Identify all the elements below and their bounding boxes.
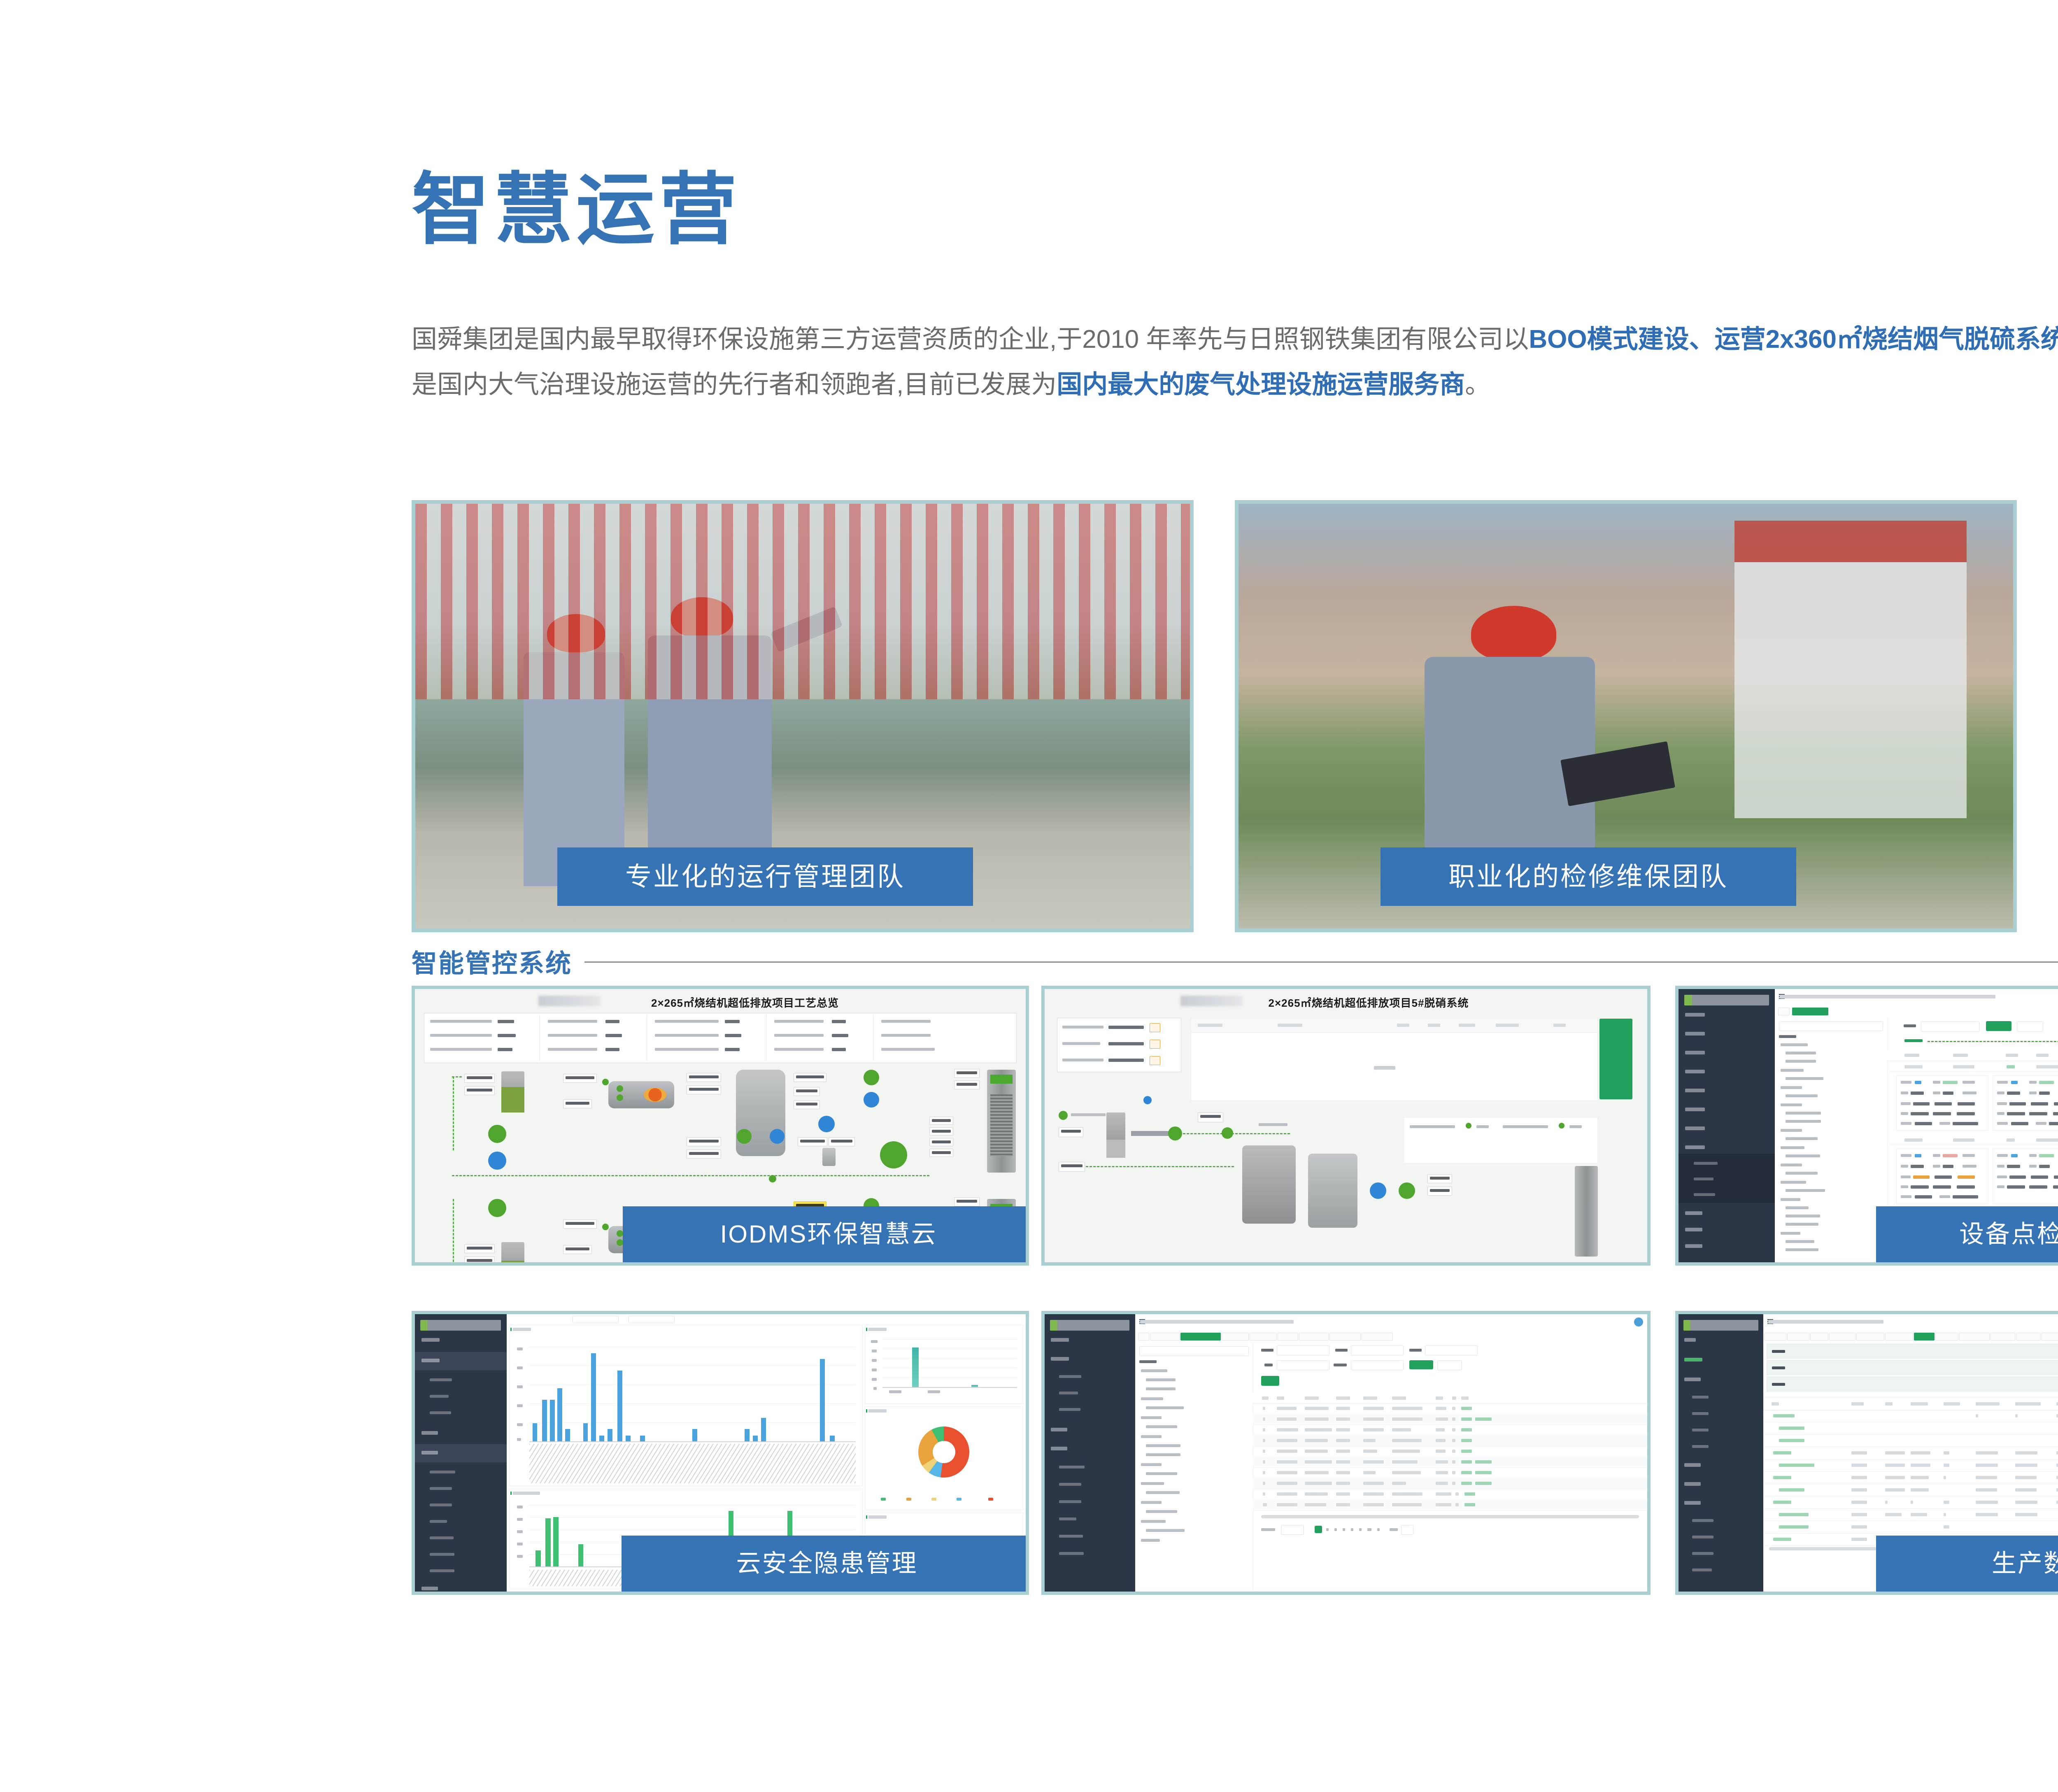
sidebar-item-safety-stats[interactable] — [430, 1536, 454, 1539]
tank-b — [501, 1242, 524, 1262]
panel-title-hazard-status — [868, 1409, 887, 1413]
sidebar-item-tv-screen[interactable] — [421, 1338, 440, 1342]
sidebar-item-equipment[interactable] — [1684, 1463, 1701, 1467]
avatar[interactable] — [1634, 1317, 1643, 1327]
intro-paragraph: 国舜集团是国内最早取得环保设施第三方运营资质的企业,于2010 年率先与日照钢铁… — [412, 317, 2058, 407]
hazard-level-chart-panel — [865, 1325, 1023, 1404]
sidebar-item-inspection-task[interactable] — [1059, 1500, 1081, 1503]
screen-hazard-table[interactable] — [1041, 1311, 1651, 1595]
page-6[interactable] — [1359, 1528, 1362, 1531]
confirm-all-button[interactable] — [1599, 1019, 1632, 1099]
screen-caption-safety: 云安全隐患管理 — [622, 1536, 1029, 1592]
pagination — [1261, 1524, 1639, 1536]
hero-caption-1: 专业化的运行管理团队 — [557, 847, 973, 906]
tab-cases[interactable] — [1278, 1333, 1298, 1341]
goto-input[interactable] — [1401, 1525, 1413, 1535]
search-button[interactable] — [1986, 1021, 2011, 1031]
hazard-count-chart — [529, 1347, 856, 1441]
status-select[interactable] — [1277, 1360, 1329, 1370]
app-topbar — [1775, 989, 2058, 1005]
tree-title — [1139, 1360, 1157, 1363]
hero-photo-2: 职业化的检修维保团队 — [1235, 500, 2017, 932]
sidebar-item-sensors[interactable] — [1694, 1178, 1713, 1180]
app-content — [1135, 1342, 1647, 1592]
sidebar-item-hazard-publicity[interactable] — [1059, 1466, 1085, 1469]
sidebar-item-logs[interactable] — [421, 1587, 438, 1590]
cems-panel — [1404, 1117, 1598, 1164]
tab-temp-vib-devices[interactable] — [1792, 1008, 1828, 1015]
sidebar-item-flow-center[interactable] — [1051, 1428, 1067, 1431]
status-indicator — [1059, 1111, 1068, 1120]
scada-title: 2×265㎡烧结机超低排放项目工艺总览 — [415, 995, 1026, 1010]
table-row[interactable] — [1253, 1446, 1647, 1457]
table-row[interactable] — [1763, 1508, 2058, 1521]
screen-caption-production: 生产数据管理 — [1876, 1536, 2058, 1592]
page-9[interactable] — [1377, 1528, 1380, 1531]
table-row[interactable] — [1253, 1478, 1647, 1489]
tab-home[interactable] — [1778, 1008, 1790, 1015]
table-row[interactable] — [1253, 1414, 1647, 1425]
red-helmet-icon — [671, 597, 733, 638]
panel-title-hazard-level — [868, 1328, 887, 1331]
scada-denox-title: 2×265㎡烧结机超低排放项目5#脱硝系统 — [1045, 995, 1647, 1010]
legend-reported[interactable] — [906, 1498, 911, 1501]
page-2[interactable] — [1326, 1528, 1329, 1531]
scada-denox: 2×265㎡烧结机超低排放项目5#脱硝系统 — [1045, 989, 1647, 1262]
screen-device-inspection[interactable]: 设备点检管理及预测性维护 — [1675, 986, 2058, 1266]
panel-title-hazard-count — [513, 1328, 531, 1331]
collapse-run-status[interactable] — [1767, 1344, 2058, 1359]
pump-icon — [488, 1125, 506, 1143]
hazard-level-select[interactable] — [1351, 1345, 1404, 1355]
sidebar-item-inspection-plan[interactable] — [430, 1487, 452, 1490]
sidebar-item-safety-stats[interactable] — [1059, 1535, 1083, 1538]
hazard-status-donut — [918, 1427, 969, 1478]
app-logo — [1683, 1320, 1758, 1331]
table-row[interactable] — [1763, 1410, 2058, 1422]
hazard-level-chart — [882, 1339, 1017, 1387]
tab-sampling-report[interactable] — [1935, 1333, 1958, 1341]
sidebar-item-data-report[interactable] — [1685, 1051, 1705, 1054]
date-range-input[interactable] — [1351, 1360, 1404, 1370]
tree-title — [1779, 1035, 1796, 1038]
sidebar-item-dashboard[interactable] — [1684, 1358, 1702, 1361]
sidebar-item-alarm-rules[interactable] — [1694, 1193, 1715, 1196]
sensor-card — [1896, 1075, 1988, 1131]
app-sidebar — [1679, 1314, 1763, 1592]
tab-inspection-task[interactable] — [1250, 1333, 1277, 1341]
filter-label — [1409, 1349, 1422, 1352]
tab-cases[interactable] — [1810, 1333, 1828, 1341]
sidebar-item-hazard-publicity[interactable] — [430, 1471, 455, 1473]
legend-editing[interactable] — [881, 1498, 886, 1501]
legend-fixing[interactable] — [931, 1498, 936, 1501]
tab-economic-review[interactable] — [1990, 1333, 2015, 1341]
search-button[interactable] — [1409, 1360, 1433, 1369]
table-row[interactable] — [1253, 1489, 1647, 1500]
hazard-reason-select[interactable] — [1425, 1345, 1478, 1355]
tree-search-input[interactable] — [1139, 1346, 1249, 1356]
hazard-count-chart-panel — [509, 1325, 863, 1486]
sidebar-item-project[interactable] — [1684, 1482, 1701, 1486]
filter-label — [1264, 1364, 1273, 1366]
table-row[interactable] — [1763, 1484, 2058, 1496]
page-title: 智慧运营 — [412, 171, 741, 249]
sidebar-item-logs[interactable] — [1685, 1244, 1702, 1248]
motor-icon — [737, 1129, 752, 1144]
sidebar-item-system[interactable] — [1685, 1070, 1705, 1073]
sidebar-item-economic-report[interactable] — [1692, 1552, 1713, 1555]
sidebar-item-emission-report[interactable] — [1692, 1519, 1713, 1522]
reset-button[interactable] — [2017, 1021, 2043, 1032]
alarm-table — [1191, 1018, 1598, 1101]
sensor-card — [1993, 1075, 2058, 1131]
empty-state-text — [1374, 1066, 1395, 1070]
table-row[interactable] — [1763, 1496, 2058, 1509]
tank-a — [501, 1071, 524, 1112]
screen-production-data[interactable]: 生产数据管理 — [1675, 1311, 2058, 1595]
hero-caption-2: 职业化的检修维保团队 — [1381, 847, 1796, 906]
tab-plan-overdue[interactable] — [1856, 1333, 1884, 1341]
hero-photo-row: 专业化的运行管理团队 职业化的检修维保团队 标准化的运营管理 — [412, 500, 2058, 932]
totals-box — [1057, 1018, 1181, 1072]
table-row[interactable] — [1253, 1403, 1647, 1414]
section-title: 智能管控系统 — [412, 943, 572, 980]
tab-emission-report[interactable] — [2016, 1333, 2041, 1341]
table-row[interactable] — [1887, 1136, 2058, 1145]
intro-highlight-2: 国内最大的废气处理设施运营服务商 — [1057, 370, 1465, 399]
sidebar-item-safety[interactable] — [1685, 1228, 1702, 1231]
app-logo — [1684, 995, 1769, 1005]
sidebar-item-flow-center[interactable] — [1685, 1211, 1702, 1215]
table-row[interactable] — [1763, 1471, 2058, 1484]
sidebar-item-temp-vib[interactable] — [421, 1359, 440, 1362]
sidebar-item-equipment[interactable] — [1685, 1013, 1705, 1017]
intro-highlight-1: BOO模式建设、运营2x360㎡烧结烟气脱硫系统 — [1529, 325, 2058, 354]
tab-home[interactable] — [1138, 1333, 1149, 1341]
table-row[interactable] — [1253, 1435, 1647, 1446]
pointing-arm — [770, 606, 843, 652]
sidebar-item-hazard-overdue[interactable] — [430, 1569, 454, 1572]
tab-bar — [1135, 1330, 1647, 1343]
sidebar-item-plan-overdue[interactable] — [1059, 1552, 1084, 1555]
tab-project-status[interactable] — [1959, 1333, 1990, 1341]
tab-bar — [1775, 1005, 2058, 1017]
screen-caption-iodms: IODMS环保智慧云 — [623, 1206, 1029, 1262]
sidebar-item-safety[interactable] — [1051, 1447, 1067, 1450]
horizontal-scrollbar[interactable] — [1261, 1515, 1639, 1518]
filter-label — [1335, 1349, 1348, 1352]
slide-root: 智慧运营 国舜集团是国内最早取得环保设施第三方运营资质的企业,于2010 年率先… — [0, 0, 2058, 1792]
table-row[interactable] — [1253, 1457, 1647, 1468]
table-row[interactable] — [1253, 1424, 1647, 1436]
hazard-list-panel — [1253, 1342, 1647, 1592]
tab-temp-vib-devices[interactable] — [1150, 1333, 1180, 1341]
pump-icon — [488, 1152, 506, 1170]
keyword-input[interactable] — [1921, 1021, 1979, 1032]
app-topbar — [1763, 1314, 2058, 1330]
screen-denox-system[interactable]: 2×265㎡烧结机超低排放项目5#脱硝系统 — [1041, 986, 1651, 1266]
sidebar-item-trend-analysis[interactable] — [1692, 1429, 1709, 1431]
screen-caption-inspection: 设备点检管理及预测性维护 — [1876, 1206, 2058, 1262]
tab-safety-stats[interactable] — [1299, 1333, 1329, 1341]
keyword-label — [1904, 1024, 1916, 1027]
page-size-select[interactable] — [1281, 1525, 1304, 1535]
sensor-card — [1896, 1149, 1988, 1204]
sidebar-item-cases[interactable] — [430, 1520, 447, 1523]
table-row[interactable] — [1763, 1447, 2058, 1459]
sidebar-item-inspection-task[interactable] — [430, 1503, 452, 1506]
advanced-search-toggle[interactable] — [1904, 1039, 1923, 1042]
sidebar-item-temp-vib[interactable] — [1685, 1145, 1705, 1149]
screen-iodms-overview[interactable]: 2×265㎡烧结机超低排放项目工艺总览 — [412, 986, 1029, 1266]
table-row[interactable] — [1763, 1521, 2058, 1534]
booster-fan — [880, 1141, 907, 1168]
motor-icon — [770, 1129, 785, 1144]
app-logo — [1050, 1320, 1129, 1331]
page-5[interactable] — [1351, 1528, 1353, 1531]
sidebar-item-safety[interactable] — [421, 1451, 438, 1455]
sidebar-item-device-card[interactable] — [1692, 1412, 1709, 1415]
sidebar-item-digital-twin[interactable] — [1692, 1445, 1709, 1448]
sidebar-item-sensors[interactable] — [430, 1395, 449, 1398]
sidebar-item-tv-screen[interactable] — [1051, 1338, 1069, 1342]
tab-dashboard[interactable] — [1914, 1333, 1935, 1341]
sidebar-item-economic-review[interactable] — [1692, 1536, 1713, 1538]
table-row[interactable] — [1763, 1422, 2058, 1435]
filter-label — [1261, 1349, 1273, 1352]
filter-input[interactable] — [629, 1316, 675, 1323]
filter-input[interactable] — [573, 1316, 619, 1323]
panel-title-completion-rate — [513, 1492, 540, 1495]
sidebar-item-project[interactable] — [1685, 1032, 1705, 1036]
app-sidebar — [1679, 989, 1775, 1262]
hazard-status-chart-panel — [865, 1406, 1023, 1510]
breadcrumb — [1768, 1320, 1883, 1324]
tab-bar — [1763, 1330, 2058, 1342]
export-button[interactable] — [1261, 1376, 1279, 1386]
table-row[interactable] — [1763, 1459, 2058, 1472]
intro-text-4: 。 — [1465, 370, 1490, 399]
collapse-economic-data[interactable] — [1767, 1377, 2058, 1392]
breadcrumb — [1140, 1320, 1294, 1324]
app-sidebar — [415, 1314, 507, 1592]
sidebar-item-temp-vib[interactable] — [1051, 1357, 1069, 1361]
table-row[interactable] — [1887, 1062, 2058, 1072]
sidebar-item-sensors[interactable] — [1059, 1392, 1078, 1394]
tab-plan-overdue[interactable] — [1329, 1333, 1361, 1341]
page-ellipsis — [1367, 1528, 1371, 1531]
table-row[interactable] — [1253, 1467, 1647, 1478]
page-4[interactable] — [1343, 1528, 1345, 1531]
tab-hazard-publicity[interactable] — [1180, 1333, 1221, 1341]
tree-search-input[interactable] — [1779, 1021, 1883, 1031]
table-row[interactable] — [1763, 1434, 2058, 1447]
sidebar-item-temp-vib-devices[interactable] — [1694, 1162, 1718, 1165]
project-tree-panel — [1135, 1342, 1253, 1592]
sidebar-item-flow-center[interactable] — [421, 1431, 438, 1435]
sensor-card — [1993, 1149, 2058, 1204]
sidebar-item-alarm-rules[interactable] — [1059, 1408, 1080, 1411]
kpi-strip — [424, 1013, 1017, 1063]
section-header: 智能管控系统 — [412, 943, 2058, 975]
intro-text-1: 国舜集团是国内最早取得环保设施第三方运营资质的企业,于2010 年率先与日照钢铁… — [412, 325, 1529, 354]
page-3[interactable] — [1334, 1528, 1337, 1531]
legend-pending-review[interactable] — [957, 1498, 961, 1501]
x-tick-labels-rotated — [529, 1444, 856, 1483]
project-tree-panel — [1775, 1017, 1888, 1262]
legend-done[interactable] — [988, 1498, 993, 1501]
sidebar-item-tv-screen[interactable] — [1685, 1126, 1705, 1130]
table-row[interactable] — [1253, 1499, 1647, 1510]
screen-safety-dashboard[interactable]: 云安全隐患管理 — [412, 1311, 1029, 1595]
sidebar-item-temp-vib-devices[interactable] — [1059, 1375, 1081, 1378]
sidebar-item-data-report[interactable] — [1684, 1501, 1701, 1505]
tab-hazard-overdue[interactable] — [1362, 1333, 1393, 1341]
tab-inspection-plan[interactable] — [1764, 1333, 1786, 1341]
hero-photo-1: 专业化的运行管理团队 — [412, 500, 1194, 932]
sidebar-item-byproduct-report[interactable] — [1692, 1569, 1712, 1571]
tab-inspection-task[interactable] — [1787, 1333, 1809, 1341]
train-a — [415, 1067, 1026, 1187]
collapse-emission-data[interactable] — [1767, 1360, 2058, 1375]
page-1[interactable] — [1315, 1526, 1322, 1533]
sidebar-item-cases[interactable] — [1059, 1517, 1076, 1520]
tab-economic-report[interactable] — [2042, 1333, 2058, 1341]
sidebar-item-inspection-plan[interactable] — [1059, 1483, 1081, 1486]
tab-inspection-plan[interactable] — [1222, 1333, 1249, 1341]
sidebar-item-plan-overdue[interactable] — [430, 1553, 454, 1556]
hazard-app — [1045, 1314, 1647, 1592]
sidebar-item-process-flow[interactable] — [1692, 1396, 1709, 1399]
sidebar-item-alarm-rules[interactable] — [430, 1411, 451, 1414]
app-logo — [420, 1320, 501, 1331]
goto-label — [1390, 1528, 1398, 1531]
sidebar-item-temp-vib-devices[interactable] — [430, 1378, 452, 1381]
app-topbar — [1135, 1314, 1647, 1330]
panel-title-hazard-category — [868, 1515, 887, 1519]
red-helmet-icon — [1471, 606, 1556, 661]
system-screens-grid: 2×265㎡烧结机超低排放项目工艺总览 — [412, 986, 2058, 1595]
filter-label — [1334, 1364, 1347, 1366]
stack-a — [987, 1070, 1016, 1173]
breadcrumb — [1780, 995, 1996, 998]
intro-text-3: 是国内大气治理设施运营的先行者和领跑者,目前已发展为 — [412, 370, 1057, 399]
hazard-category-select[interactable] — [1277, 1345, 1329, 1355]
section-divider — [584, 961, 2058, 963]
sidebar-item-home[interactable] — [1684, 1338, 1696, 1342]
sidebar-item-multi-menu[interactable] — [1685, 1108, 1705, 1111]
app-sidebar — [1045, 1314, 1135, 1592]
total-count — [1261, 1528, 1275, 1531]
red-helmet-icon — [547, 614, 605, 652]
sidebar-item-run-monitor[interactable] — [1684, 1378, 1701, 1381]
tab-safety-stats[interactable] — [1829, 1333, 1855, 1341]
tab-hazard-overdue[interactable] — [1885, 1333, 1913, 1341]
sidebar-item-docs[interactable] — [1685, 1089, 1705, 1092]
reset-button[interactable] — [1437, 1360, 1462, 1370]
